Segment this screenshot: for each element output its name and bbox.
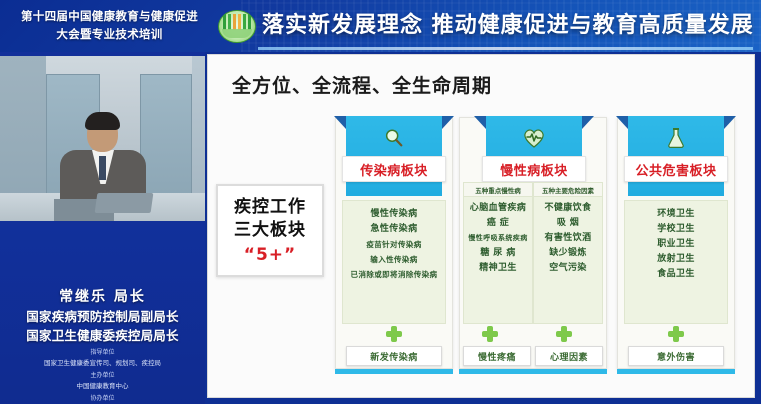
host-org-group: 主办单位 中国健康教育中心 [0,371,205,391]
column-3-items: 环境卫生 学校卫生 职业卫生 放射卫生 食品卫生 [624,200,728,324]
green-cross-icon [556,326,572,342]
host-org: 中国健康教育中心 [0,381,205,391]
list-item: 癌 症 [464,216,532,231]
green-cross-icon [482,326,498,342]
column-3-footer: 意外伤害 [628,346,724,366]
coorg-group: 协办单位 中国疾病预防控制中心/中国医药卫生事业发展基金会 中华预防医学会/中国… [0,394,205,404]
column-3-title: 公共危害板块 [624,156,728,182]
speaker-info: 常继乐 局长 国家疾病预防控制局副局长 国家卫生健康委疾控局局长 指导单位 国家… [0,227,205,404]
list-item: 放射卫生 [625,252,727,267]
column-2-footer-right: 心理因素 [535,346,603,366]
cap-fold-left [334,116,346,129]
green-cross-icon [386,326,402,342]
heart-pulse-icon [486,124,582,152]
list-item: 糖 尿 病 [464,246,532,261]
column-2-base-bar [459,369,607,374]
column-3-cap: 公共危害板块 [628,116,724,196]
core-concept-box: 疾控工作 三大板块 “5+” [216,184,324,277]
conference-title-line2: 大会暨专业技术培训 [12,25,207,43]
column-1-items: 慢性传染病 急性传染病 疫苗针对传染病 输入性传染病 已消除或即将消除传染病 [342,200,446,324]
screen-root: 第十四届中国健康教育与健康促进 大会暨专业技术培训 落实新发展理念 推动健康促进… [0,0,761,404]
speaker-video-panel: 常继乐 局长 国家疾病预防控制局副局长 国家卫生健康委疾控局局长 指导单位 国家… [0,52,205,404]
list-item: 急性传染病 [343,222,445,237]
guidance-org-group: 指导单位 国家卫生健康委宣传司、规划司、疾控局 [0,348,205,368]
column-1-base-bar [335,369,453,374]
list-item: 有害性饮酒 [534,231,602,246]
list-item: 空气污染 [534,261,602,276]
core-line-2: 三大板块 [234,219,306,242]
column-infectious: 传染病板块 慢性传染病 急性传染病 疫苗针对传染病 输入性传染病 已消除或即将消… [335,117,453,369]
host-label: 主办单位 [0,371,205,381]
column-2-title: 慢性病板块 [482,156,586,182]
conference-title: 第十四届中国健康教育与健康促进 大会暨专业技术培训 [12,7,207,43]
list-item: 疫苗针对传染病 [343,237,445,252]
column-public-hazard: 公共危害板块 环境卫生 学校卫生 职业卫生 放射卫生 食品卫生 意外伤害 [617,117,735,369]
green-cross-icon [668,326,684,342]
core-plus-label: “5+” [244,245,296,265]
list-item: 输入性传染病 [343,252,445,267]
chronic-diseases-subcolumn: 五种重点慢性病 心脑血管疾病 癌 症 慢性呼吸系统疾病 糖 尿 病 精神卫生 [463,182,533,324]
video-feed[interactable] [0,56,205,221]
list-item: 精神卫生 [464,261,532,276]
coorg-label: 协办单位 [0,394,205,404]
guidance-org: 国家卫生健康委宣传司、规划司、疾控局 [0,358,205,368]
column-2-footer-left: 慢性疼痛 [463,346,531,366]
list-item: 食品卫生 [625,267,727,282]
speaker-role-2: 国家卫生健康委疾控局局长 [0,326,205,345]
list-item: 慢性呼吸系统疾病 [464,231,532,246]
list-item: 缺少锻炼 [534,246,602,261]
laptop [95,193,154,213]
column-1-cap: 传染病板块 [346,116,442,196]
list-item: 已消除或即将消除传染病 [343,267,445,282]
list-item: 心脑血管疾病 [464,201,532,216]
logo-base [222,29,252,38]
speaker-name: 常继乐 局长 [0,287,205,307]
presentation-slide: 全方位、全流程、全生命周期 疾控工作 三大板块 “5+” 传染病板块 [207,54,755,398]
risk-factors-header: 五种主要危险因素 [534,183,602,197]
flask-icon [628,124,724,152]
speaker-tie [99,156,106,180]
column-2-items: 五种重点慢性病 心脑血管疾病 癌 症 慢性呼吸系统疾病 糖 尿 病 精神卫生 五… [462,182,604,324]
speaker-hair [85,112,120,130]
column-1-title: 传染病板块 [342,156,446,182]
list-item: 吸 烟 [534,216,602,231]
risk-factors-list: 不健康饮食 吸 烟 有害性饮酒 缺少锻炼 空气污染 [534,201,602,276]
guidance-label: 指导单位 [0,348,205,358]
list-item: 学校卫生 [625,222,727,237]
column-1-footer: 新发传染病 [346,346,442,366]
speaker-role-1: 国家疾病预防控制局副局长 [0,307,205,326]
conference-title-line1: 第十四届中国健康教育与健康促进 [12,7,207,25]
logo-leaves [223,14,251,30]
cap-fold-right [582,116,594,129]
list-item: 环境卫生 [625,207,727,222]
column-chronic: 慢性病板块 五种重点慢性病 心脑血管疾病 癌 症 慢性呼吸系统疾病 糖 尿 病 … [459,117,607,369]
header-underline [258,47,753,50]
list-item: 慢性传染病 [343,207,445,222]
conference-logo-icon [218,10,256,43]
list-item: 不健康饮食 [534,201,602,216]
cap-fold-right [724,116,736,129]
chronic-diseases-list: 心脑血管疾病 癌 症 慢性呼吸系统疾病 糖 尿 病 精神卫生 [464,201,532,276]
cap-fold-left [616,116,628,129]
cap-fold-left [474,116,486,129]
list-item: 职业卫生 [625,237,727,252]
column-3-base-bar [617,369,735,374]
cap-fold-right [442,116,454,129]
video-backdrop-panel-right [140,74,192,194]
chronic-diseases-header: 五种重点慢性病 [464,183,532,197]
risk-factors-subcolumn: 五种主要危险因素 不健康饮食 吸 烟 有害性饮酒 缺少锻炼 空气污染 [533,182,603,324]
core-line-1: 疾控工作 [234,196,306,219]
banner-slogan: 落实新发展理念 推动健康促进与教育高质量发展 [262,8,754,44]
page-header: 第十四届中国健康教育与健康促进 大会暨专业技术培训 落实新发展理念 推动健康促进… [0,0,761,52]
magnifier-icon [346,124,442,152]
slide-title: 全方位、全流程、全生命周期 [232,71,492,98]
